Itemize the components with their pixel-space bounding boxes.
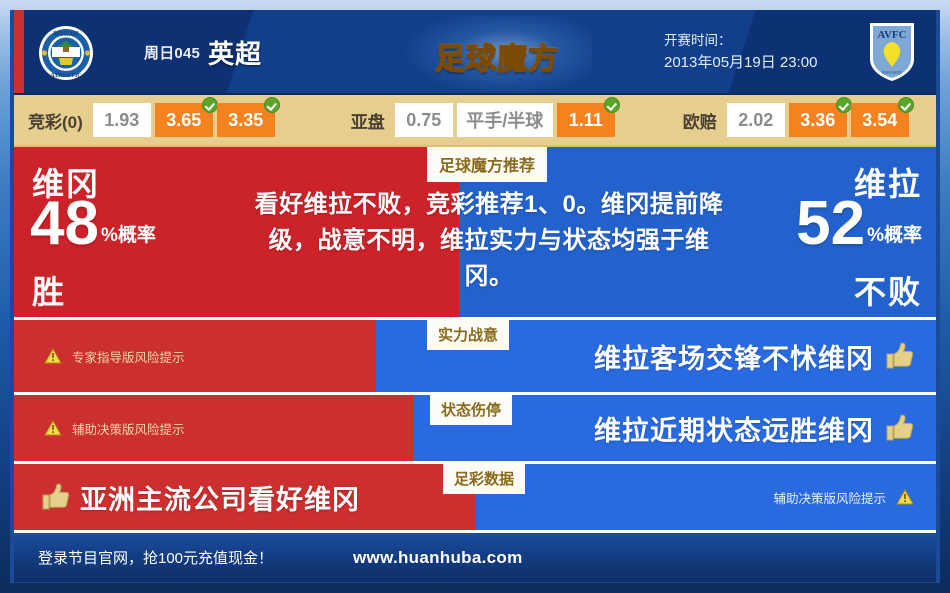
round-number: 周日045 bbox=[144, 42, 200, 63]
odds-cell-jingcai-away[interactable]: 3.35 bbox=[217, 103, 275, 137]
league-name: 英超 bbox=[208, 34, 262, 71]
footer-promo-text: 登录节目官网，抢100元充值现金！ bbox=[14, 547, 273, 568]
stat-row-3-red-panel: 亚洲主流公司看好维冈 bbox=[14, 464, 476, 530]
odds-value: 1.11 bbox=[569, 110, 603, 131]
odds-cell-european-away[interactable]: 3.54 bbox=[851, 103, 909, 137]
risk-note: 辅助决策版风险提示 bbox=[476, 464, 936, 530]
odds-cell-european-home[interactable]: 2.02 bbox=[727, 103, 785, 137]
stat-row: 专家指导版风险提示 实力战意 维拉客场交锋不怵维冈 bbox=[14, 317, 936, 392]
odds-value: 0.75 bbox=[406, 110, 441, 131]
odds-group-jingcai: 竞彩(0) 1.93 3.65 3.35 bbox=[28, 103, 279, 137]
odds-cell-asian-away[interactable]: 1.11 bbox=[557, 103, 615, 137]
svg-text:AVFC: AVFC bbox=[877, 29, 906, 41]
stat-row-2-tab: 状态伤停 bbox=[430, 395, 512, 425]
match-header: WIGAN ATHLETIC 周日045 英超 足球魔方 开赛时间： 2013年… bbox=[14, 10, 936, 95]
hero-away-percent-suffix: %概率 bbox=[867, 220, 922, 253]
thumbs-up-icon bbox=[40, 483, 70, 511]
hero-home-percent: 48 bbox=[30, 195, 99, 253]
hero-home-percent-suffix: %概率 bbox=[101, 220, 156, 253]
footer-website-link[interactable]: www.huanhuba.com bbox=[273, 548, 522, 568]
match-preview-card: WIGAN ATHLETIC 周日045 英超 足球魔方 开赛时间： 2013年… bbox=[10, 10, 940, 583]
check-badge-icon bbox=[899, 98, 913, 112]
hero-section-tab: 足球魔方推荐 bbox=[427, 147, 547, 182]
stat-row-1-red-panel: 专家指导版风险提示 bbox=[14, 320, 376, 392]
stat-row-1-tab: 实力战意 bbox=[427, 320, 509, 350]
odds-group-label: 竞彩(0) bbox=[28, 108, 83, 133]
odds-cell-jingcai-draw[interactable]: 3.65 bbox=[155, 103, 213, 137]
risk-note: 专家指导版风险提示 bbox=[14, 320, 376, 392]
risk-note-text: 辅助决策版风险提示 bbox=[72, 419, 185, 438]
brand-logo-text: 足球魔方 bbox=[435, 34, 559, 78]
risk-note-text: 辅助决策版风险提示 bbox=[773, 488, 886, 507]
prediction-hero: 维冈 48 %概率 胜 维拉 52 %概率 不败 足球魔方推荐 看好维拉不败，竞… bbox=[14, 147, 936, 317]
odds-value: 3.65 bbox=[166, 110, 201, 131]
footer-bar: 登录节目官网，抢100元充值现金！ www.huanhuba.com bbox=[14, 530, 936, 582]
odds-bar: 竞彩(0) 1.93 3.65 3.35 亚盘 0.75 平手/半球 bbox=[14, 95, 936, 147]
kickoff-value: 2013年05月19日 23:00 bbox=[664, 52, 817, 74]
svg-text:ATHLETIC: ATHLETIC bbox=[50, 73, 81, 79]
hero-away-probability: 52 %概率 bbox=[796, 195, 922, 253]
odds-value: 平手/半球 bbox=[466, 107, 543, 133]
match-title: 周日045 英超 bbox=[144, 10, 262, 95]
hero-home-probability: 48 %概率 bbox=[30, 195, 156, 253]
odds-cell-asian-home[interactable]: 0.75 bbox=[395, 103, 453, 137]
warning-icon bbox=[44, 348, 62, 364]
stat-row-3-claim-text: 亚洲主流公司看好维冈 bbox=[80, 478, 360, 517]
odds-cell-asian-handicap[interactable]: 平手/半球 bbox=[457, 103, 553, 137]
warning-icon bbox=[896, 489, 914, 505]
stat-row-1-blue-panel: 实力战意 维拉客场交锋不怵维冈 bbox=[376, 320, 936, 392]
stat-row: 辅助决策版风险提示 状态伤停 维拉近期状态远胜维冈 bbox=[14, 392, 936, 461]
odds-value: 3.54 bbox=[862, 110, 897, 131]
stat-row-3-blue-panel: 足彩数据 辅助决策版风险提示 bbox=[476, 464, 936, 530]
svg-text:WIGAN: WIGAN bbox=[53, 30, 78, 38]
header-accent-bar bbox=[14, 10, 24, 93]
check-badge-icon bbox=[605, 98, 619, 112]
odds-value: 2.02 bbox=[738, 110, 773, 131]
hero-home-outcome: 胜 bbox=[32, 267, 66, 313]
warning-icon bbox=[44, 420, 62, 436]
hero-recommendation-text: 看好维拉不败，竞彩推荐1、0。维冈提前降级，战意不明，维拉实力与状态均强于维冈。 bbox=[254, 187, 724, 295]
odds-cell-european-draw[interactable]: 3.36 bbox=[789, 103, 847, 137]
odds-cell-jingcai-home[interactable]: 1.93 bbox=[93, 103, 151, 137]
hero-away-percent: 52 bbox=[796, 195, 865, 253]
stat-row-3-claim: 亚洲主流公司看好维冈 bbox=[14, 464, 476, 530]
odds-value: 3.36 bbox=[800, 110, 835, 131]
odds-group-asian: 亚盘 0.75 平手/半球 1.11 bbox=[351, 103, 619, 137]
hero-away-outcome: 不败 bbox=[854, 267, 922, 313]
stat-row: 亚洲主流公司看好维冈 足彩数据 辅助决策版风险提示 bbox=[14, 461, 936, 530]
kickoff-time-block: 开赛时间： 2013年05月19日 23:00 bbox=[664, 30, 817, 74]
wigan-athletic-crest-icon: WIGAN ATHLETIC bbox=[38, 25, 94, 81]
odds-group-european: 欧赔 2.02 3.36 3.54 bbox=[683, 103, 913, 137]
odds-group-label: 亚盘 bbox=[351, 108, 385, 133]
stat-row-2-blue-panel: 状态伤停 维拉近期状态远胜维冈 bbox=[414, 395, 936, 461]
check-badge-icon bbox=[203, 98, 217, 112]
svg-text:PREPARED: PREPARED bbox=[882, 70, 902, 75]
check-badge-icon bbox=[265, 98, 279, 112]
risk-note: 辅助决策版风险提示 bbox=[14, 395, 414, 461]
thumbs-up-icon bbox=[884, 342, 914, 370]
stat-row-3-tab: 足彩数据 bbox=[443, 464, 525, 494]
odds-value: 1.93 bbox=[104, 110, 139, 131]
aston-villa-crest-icon: AVFC PREPARED bbox=[866, 20, 918, 84]
brand-logo: 足球魔方 bbox=[427, 32, 567, 80]
thumbs-up-icon bbox=[884, 414, 914, 442]
risk-note-text: 专家指导版风险提示 bbox=[72, 347, 185, 366]
stat-row-2-red-panel: 辅助决策版风险提示 bbox=[14, 395, 414, 461]
stat-row-2-claim-text: 维拉近期状态远胜维冈 bbox=[594, 409, 874, 448]
check-badge-icon bbox=[837, 98, 851, 112]
stat-row-1-claim-text: 维拉客场交锋不怵维冈 bbox=[594, 337, 874, 376]
odds-group-label: 欧赔 bbox=[683, 108, 717, 133]
kickoff-label: 开赛时间： bbox=[664, 30, 817, 52]
odds-value: 3.35 bbox=[228, 110, 263, 131]
